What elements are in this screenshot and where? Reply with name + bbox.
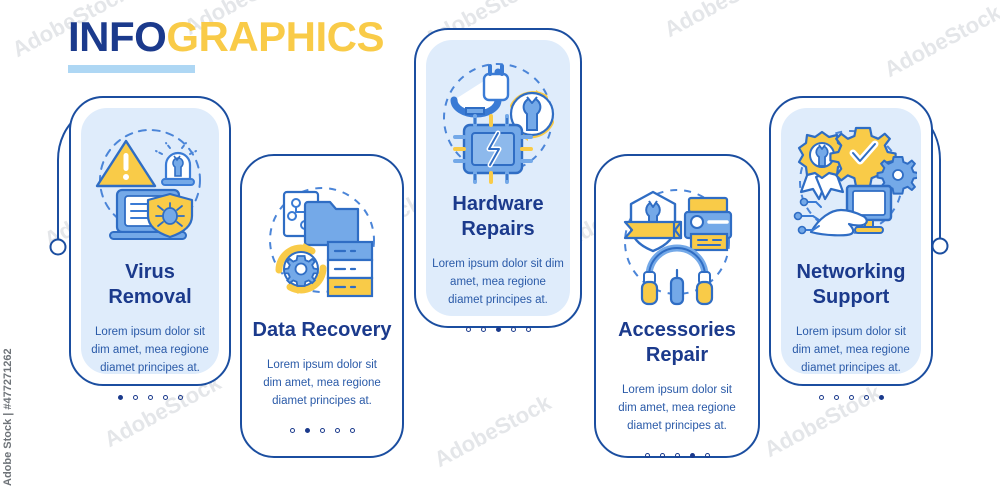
folder-gear-server-icon — [256, 178, 388, 310]
card-virus-removal[interactable]: Virus Removal Lorem ipsum dolor sit dim … — [69, 96, 231, 386]
card-content: Data Recovery Lorem ipsum dolor sit dim … — [242, 156, 402, 433]
card-content: Accessories Repair Lorem ipsum dolor sit… — [596, 156, 758, 458]
title-underline — [68, 65, 195, 73]
pagination-dot[interactable] — [879, 395, 884, 400]
page-title: INFOGRAPHICS — [68, 16, 384, 73]
pagination-dot[interactable] — [320, 428, 325, 433]
pagination-dot[interactable] — [163, 395, 168, 400]
card-title: Networking Support — [771, 260, 931, 310]
pagination-dot[interactable] — [335, 428, 340, 433]
card-content: Networking Support Lorem ipsum dolor sit… — [771, 98, 931, 400]
card-title: Hardware Repairs — [416, 192, 580, 242]
pagination-dot[interactable] — [660, 453, 665, 458]
pagination-dot[interactable] — [705, 453, 710, 458]
pagination-dot[interactable] — [834, 395, 839, 400]
title-text: INFOGRAPHICS — [68, 16, 384, 58]
pagination-dot[interactable] — [148, 395, 153, 400]
pagination-dot[interactable] — [675, 453, 680, 458]
pagination-dot[interactable] — [645, 453, 650, 458]
card-body: Lorem ipsum dolor sit dim amet, mea regi… — [242, 357, 402, 410]
pagination-dot[interactable] — [511, 327, 516, 332]
card-accessories-repair[interactable]: Accessories Repair Lorem ipsum dolor sit… — [594, 154, 760, 458]
pagination-dot[interactable] — [849, 395, 854, 400]
pagination-dot[interactable] — [864, 395, 869, 400]
card-body: Lorem ipsum dolor sit dim amet, mea regi… — [596, 382, 758, 435]
pagination-dot[interactable] — [305, 428, 310, 433]
pagination-dot[interactable] — [133, 395, 138, 400]
watermark-tile: AdobeStock — [660, 0, 786, 43]
watermark-tile: AdobeStock — [880, 0, 1000, 83]
card-title: Data Recovery — [243, 318, 402, 343]
pagination-dot[interactable] — [466, 327, 471, 332]
pagination-dots[interactable] — [645, 453, 710, 458]
pagination-dots[interactable] — [290, 428, 355, 433]
pagination-dot[interactable] — [819, 395, 824, 400]
pagination-dot[interactable] — [481, 327, 486, 332]
award-gear-monitor-hand-icon — [785, 120, 917, 252]
card-content: Virus Removal Lorem ipsum dolor sit dim … — [71, 98, 229, 400]
pagination-dot[interactable] — [350, 428, 355, 433]
cpu-wrench-plug-icon — [432, 52, 564, 184]
pagination-dot[interactable] — [690, 453, 695, 458]
headphones-printer-badge-icon — [611, 178, 743, 310]
card-body: Lorem ipsum dolor sit dim amet, mea regi… — [71, 324, 229, 377]
card-content: Hardware Repairs Lorem ipsum dolor sit d… — [416, 30, 580, 332]
title-info-part: INFO — [68, 13, 166, 60]
pagination-dot[interactable] — [118, 395, 123, 400]
card-data-recovery[interactable]: Data Recovery Lorem ipsum dolor sit dim … — [240, 154, 404, 458]
pagination-dot[interactable] — [290, 428, 295, 433]
card-title: Accessories Repair — [596, 318, 758, 368]
card-body: Lorem ipsum dolor sit dim amet, mea regi… — [416, 256, 580, 309]
pagination-dots[interactable] — [118, 395, 183, 400]
pagination-dots[interactable] — [466, 327, 531, 332]
card-body: Lorem ipsum dolor sit dim amet, mea regi… — [771, 324, 931, 377]
pagination-dots[interactable] — [819, 395, 884, 400]
title-graphics-part: GRAPHICS — [166, 13, 384, 60]
card-hardware-repairs[interactable]: Hardware Repairs Lorem ipsum dolor sit d… — [414, 28, 582, 328]
watermark-tile: AdobeStock — [430, 390, 556, 473]
pagination-dot[interactable] — [526, 327, 531, 332]
card-title: Virus Removal — [71, 260, 229, 310]
card-networking-support[interactable]: Networking Support Lorem ipsum dolor sit… — [769, 96, 933, 386]
virus-shield-icon — [84, 120, 216, 252]
stock-id-watermark: Adobe Stock | #477271262 — [2, 348, 14, 486]
pagination-dot[interactable] — [178, 395, 183, 400]
infographic-canvas: AdobeStock AdobeStock AdobeStock AdobeSt… — [0, 0, 1000, 488]
pagination-dot[interactable] — [496, 327, 501, 332]
